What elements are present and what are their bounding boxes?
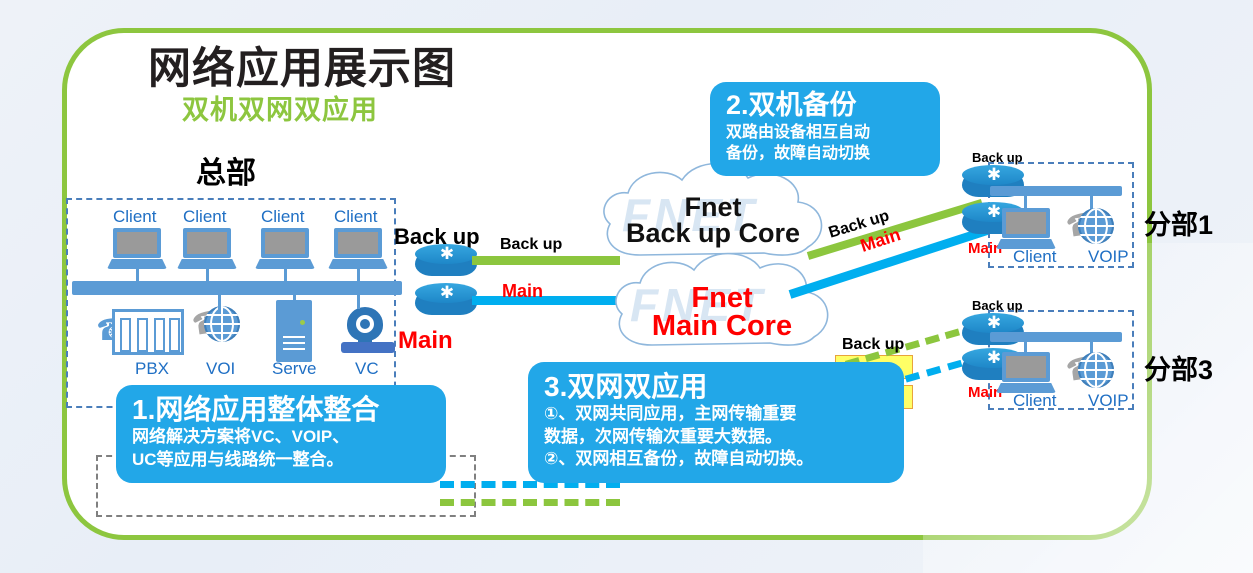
main-core-cloud: FNET Fnet Main Core <box>602 248 842 366</box>
callout-2-heading: 2.双机备份 <box>726 90 924 122</box>
callout-2-body-line-1: 双路由设备相互自动 <box>726 122 924 143</box>
hq-client-4-icon <box>328 228 388 272</box>
headquarters-bus <box>72 281 402 295</box>
hq-client-3-icon <box>255 228 315 272</box>
bottom-link-backup <box>440 499 620 506</box>
branch-3-voip-label: VOIP <box>1088 392 1122 409</box>
callout-1[interactable]: 1.网络应用整体整合 网络解决方案将VC、VOIP、 UC等应用与线路统一整合。 <box>116 385 446 483</box>
branch-1-client-icon <box>996 208 1056 252</box>
callout-3[interactable]: 3.双网双应用 ①、双网共同应用，主网传输重要 数据，次网传输次重要大数据。 ②… <box>528 362 904 483</box>
link-hq-main-core-label: Main <box>502 281 543 302</box>
backup-core-line2: Back up Core <box>588 220 838 248</box>
hq-client-2-stub <box>206 269 209 283</box>
branch-3-client-icon <box>996 352 1056 396</box>
callout-2-body-line-2: 备份，故障自动切换 <box>726 143 924 164</box>
pbx-label: PBX <box>135 360 169 377</box>
callout-3-body-line-1: ①、双网共同应用，主网传输重要 <box>544 403 888 426</box>
hq-client-1-icon <box>107 228 167 272</box>
hq-voip-label: VOI <box>206 360 235 377</box>
hq-voip-globe-icon: ☎ <box>196 306 240 350</box>
video-camera-icon <box>341 307 395 355</box>
headquarters-title: 总部 <box>196 148 256 192</box>
vc-label: VC <box>355 360 379 377</box>
hq-router-main-label: Main <box>398 327 453 355</box>
branch-3-voip-globe-icon: ☎ <box>1070 352 1114 396</box>
branch-1-label: 分部1 <box>1144 203 1213 242</box>
page-title: 网络应用展示图 <box>148 34 456 96</box>
branch-1-backup-label: Back up <box>972 150 1023 165</box>
server-icon <box>276 300 312 362</box>
diagram-canvas: 网络应用展示图 双机双网双应用 总部 Client Client Client … <box>0 0 1253 573</box>
pbx-icon: ☎ <box>96 309 184 355</box>
hq-client-4-label: Client <box>334 208 368 225</box>
server-label: Serve <box>272 360 316 377</box>
hq-server-stub <box>293 293 296 303</box>
hq-client-2-label: Client <box>183 208 217 225</box>
hq-client-4-stub <box>357 269 360 283</box>
hq-client-1-label: Client <box>113 208 147 225</box>
hq-client-2-icon <box>177 228 237 272</box>
callout-1-body-line-1: 网络解决方案将VC、VOIP、 <box>132 426 430 449</box>
link-hq-main-core <box>472 296 620 305</box>
link-hq-backup-core-label: Back up <box>500 236 562 254</box>
callout-3-heading: 3.双网双应用 <box>544 370 888 403</box>
hq-client-3-stub <box>284 269 287 283</box>
branch-3-backup-label: Back up <box>972 298 1023 313</box>
branch-3-bus <box>990 332 1122 342</box>
callout-2[interactable]: 2.双机备份 双路由设备相互自动 备份，故障自动切换 <box>710 82 940 176</box>
link-branch3-backup-label: Back up <box>842 336 904 354</box>
callout-3-body-line-3: ②、双网相互备份，故障自动切换。 <box>544 448 888 471</box>
hq-client-3-label: Client <box>261 208 295 225</box>
branch-1-voip-label: VOIP <box>1088 248 1122 265</box>
branch-1-backup-router-icon: ✱ <box>962 165 1024 203</box>
hq-backup-router-icon: ✱ <box>415 244 477 282</box>
branch-1-bus <box>990 186 1122 196</box>
callout-3-body-line-2: 数据，次网传输次重要大数据。 <box>544 426 888 449</box>
hq-client-1-stub <box>136 269 139 283</box>
hq-main-router-icon: ✱ <box>415 283 477 321</box>
page-subtitle: 双机双网双应用 <box>182 88 378 127</box>
callout-1-heading: 1.网络应用整体整合 <box>132 393 430 426</box>
branch-1-client-label: Client <box>1013 248 1047 265</box>
branch-3-label: 分部3 <box>1144 348 1213 387</box>
main-core-line2: Main Core <box>602 312 842 342</box>
callout-1-body-line-2: UC等应用与线路统一整合。 <box>132 449 430 472</box>
hq-voip-stub <box>218 293 221 311</box>
branch-1-voip-globe-icon: ☎ <box>1070 208 1114 252</box>
branch-3-client-label: Client <box>1013 392 1047 409</box>
hq-vc-stub <box>357 293 360 309</box>
